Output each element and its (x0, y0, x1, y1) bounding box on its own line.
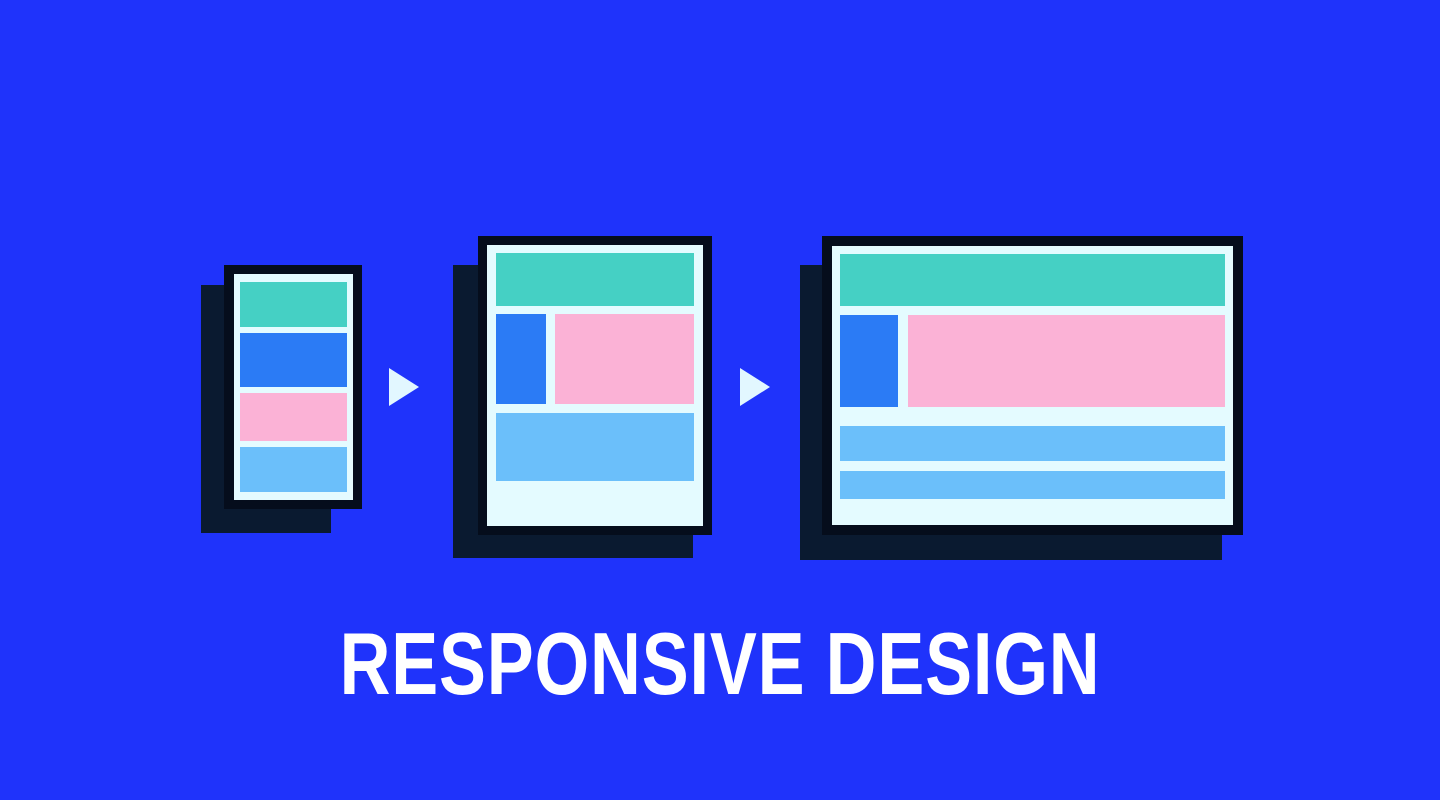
phone-screen (234, 274, 353, 500)
arrow-phone-to-tablet-icon (389, 368, 419, 406)
arrow-tablet-to-desktop-icon (740, 368, 770, 406)
page-title: RESPONSIVE DESIGN (144, 620, 1296, 708)
desktop-footer-block-1 (840, 426, 1225, 461)
tablet-header-block (496, 253, 694, 306)
desktop-header-block (840, 254, 1225, 306)
tablet-screen (487, 245, 703, 526)
desktop-sidebar-block (840, 315, 898, 407)
desktop-content-block (908, 315, 1225, 407)
phone-footer-block (240, 447, 347, 492)
desktop-screen (832, 246, 1233, 525)
tablet-sidebar-block (496, 314, 546, 404)
tablet-content-block (555, 314, 694, 404)
tablet-footer-block (496, 413, 694, 481)
desktop-footer-block-2 (840, 471, 1225, 499)
responsive-design-illustration: RESPONSIVE DESIGN (0, 0, 1440, 800)
phone-content-block (240, 393, 347, 441)
phone-header-block (240, 282, 347, 327)
phone-sidebar-block (240, 333, 347, 387)
